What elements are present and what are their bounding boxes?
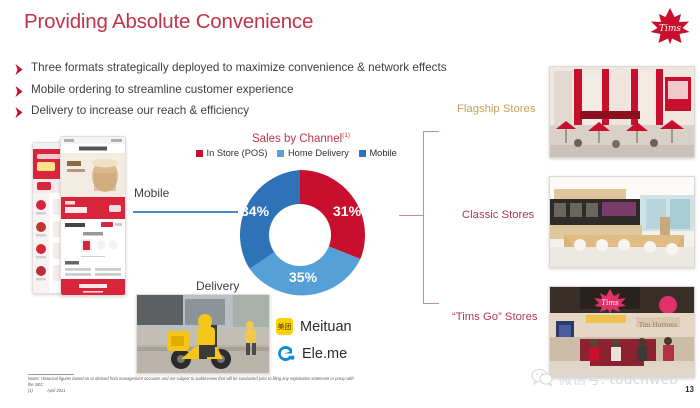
list-item: Mobile ordering to streamline customer e…: [14, 83, 484, 98]
footnote-ref-text: April 2021: [47, 388, 65, 393]
list-item: Three formats strategically deployed to …: [14, 61, 484, 76]
mobile-callout-rule: [133, 211, 238, 213]
legend-swatch: [359, 150, 366, 157]
legend-label: Mobile: [369, 148, 396, 158]
chart-title-footnote-ref: (1): [342, 132, 350, 139]
footnote-block: Notes: Historical figures based on or de…: [28, 376, 358, 394]
bullet-text: Three formats strategically deployed to …: [31, 61, 447, 75]
tims-go-store-photo: Tims Tim Hortons: [549, 286, 695, 378]
bullet-text: Mobile ordering to streamline customer e…: [31, 83, 293, 97]
footnote-notes: Notes: Historical figures based on or de…: [28, 376, 358, 387]
partner-meituan: Meituan: [276, 318, 352, 335]
legend-label: Home Delivery: [288, 148, 349, 158]
footnote-divider: [28, 374, 74, 375]
legend-label: In Store (POS): [207, 148, 268, 158]
chevron-bullet-icon: [14, 63, 26, 76]
partner-eleme: Ele.me: [276, 344, 352, 363]
svg-text:Tims: Tims: [601, 299, 619, 307]
bracket-tick-bottom: [423, 303, 439, 304]
chevron-bullet-icon: [14, 85, 26, 98]
chart-title-text: Sales by Channel: [252, 133, 342, 145]
svg-text:Tims: Tims: [659, 24, 681, 34]
meituan-logo-icon: [276, 318, 293, 335]
legend-swatch: [196, 150, 203, 157]
phone-screenshot-front: [60, 136, 126, 296]
bracket-bar: [423, 131, 424, 303]
partner-name: Ele.me: [302, 346, 347, 362]
donut-hole: [269, 204, 331, 266]
mobile-callout-label: Mobile: [134, 186, 169, 200]
legend-item-mobile: Mobile: [359, 148, 397, 158]
flagship-store-photo: [549, 66, 695, 158]
chart-title: Sales by Channel(1): [252, 132, 350, 145]
svg-text:Tim Hortons: Tim Hortons: [639, 322, 677, 329]
wechat-icon: [531, 368, 553, 390]
bracket-tick-top: [423, 131, 439, 132]
eleme-logo-icon: [276, 344, 295, 363]
slice-label-mobile: 34%: [241, 203, 269, 219]
bracket-stem: [399, 215, 424, 216]
mobile-app-screenshots: [32, 136, 152, 296]
page-title: Providing Absolute Convenience: [24, 10, 313, 34]
footnote-ref-number: (1): [28, 388, 33, 393]
footnote-reference: (1)April 2021: [28, 388, 358, 394]
slice-label-home-delivery: 35%: [289, 269, 317, 285]
chevron-bullet-icon: [14, 106, 26, 119]
chart-legend: In Store (POS) Home Delivery Mobile: [196, 148, 397, 158]
store-label-tims-go: “Tims Go” Stores: [452, 311, 538, 323]
page-number: 13: [685, 385, 694, 394]
legend-item-in-store: In Store (POS): [196, 148, 267, 158]
tims-maple-leaf-logo: Tims: [648, 6, 692, 46]
store-label-classic: Classic Stores: [462, 209, 534, 221]
slice-label-in-store: 31%: [333, 203, 361, 219]
store-label-flagship: Flagship Stores: [457, 103, 536, 115]
delivery-partner-logos: Meituan Ele.me: [276, 318, 352, 372]
legend-item-home-delivery: Home Delivery: [277, 148, 348, 158]
slide-canvas: Providing Absolute Convenience Tims Thre…: [0, 0, 700, 408]
classic-store-photo: [549, 176, 695, 268]
legend-swatch: [277, 150, 284, 157]
wechat-watermark: 微信号: touchweb: [531, 368, 678, 390]
bullet-list: Three formats strategically deployed to …: [14, 61, 484, 126]
watermark-text: 微信号: touchweb: [558, 369, 678, 389]
bullet-text: Delivery to increase our reach & efficie…: [31, 104, 249, 118]
list-item: Delivery to increase our reach & efficie…: [14, 104, 484, 119]
partner-name: Meituan: [300, 319, 352, 335]
